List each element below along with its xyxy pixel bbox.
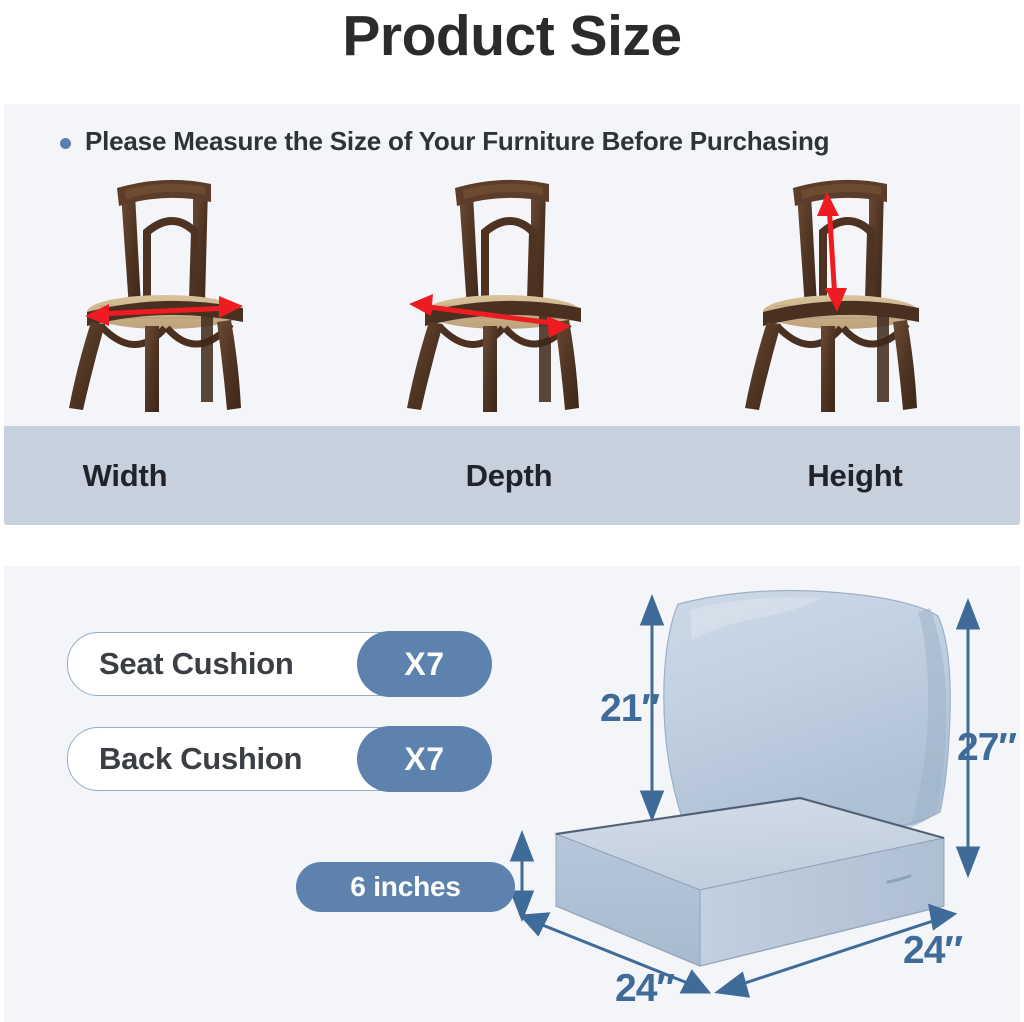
back-cushion-label: Back Cushion [99, 741, 302, 777]
seat-cushion-count-pill: Seat Cushion X7 [67, 632, 491, 696]
chair-illustrations [4, 166, 1020, 416]
back-cushion-qty-badge: X7 [357, 726, 492, 792]
measure-bullet-row: Please Measure the Size of Your Furnitur… [60, 126, 829, 157]
chair-width-icon [25, 166, 325, 416]
label-width: Width [0, 426, 294, 525]
dim-total-height-label: 27″ [957, 726, 1016, 770]
dimension-label-band: Width Depth Height [4, 426, 1020, 525]
chair-depth-cell [344, 166, 682, 416]
measure-panel: Please Measure the Size of Your Furnitur… [4, 104, 1020, 426]
page-title: Product Size [0, 4, 1024, 68]
label-depth: Depth [340, 426, 678, 525]
chair-height-icon [701, 166, 1001, 416]
dim-depth-label: 24″ [903, 929, 962, 973]
seat-cushion-qty-badge: X7 [357, 631, 492, 697]
thickness-arrow-icon [512, 834, 532, 918]
measure-bullet-text: Please Measure the Size of Your Furnitur… [85, 126, 829, 157]
bullet-dot-icon [60, 138, 71, 149]
label-height: Height [686, 426, 1024, 525]
chair-height-cell [682, 166, 1020, 416]
back-cushion-count-pill: Back Cushion X7 [67, 727, 491, 791]
dim-back-height-label: 21″ [600, 687, 659, 731]
thickness-badge: 6 inches [296, 862, 515, 912]
chair-width-cell [6, 166, 344, 416]
dim-width-label: 24″ [615, 967, 674, 1011]
seat-cushion-shape [556, 798, 944, 966]
seat-cushion-label: Seat Cushion [99, 646, 293, 682]
chair-depth-icon [363, 166, 663, 416]
